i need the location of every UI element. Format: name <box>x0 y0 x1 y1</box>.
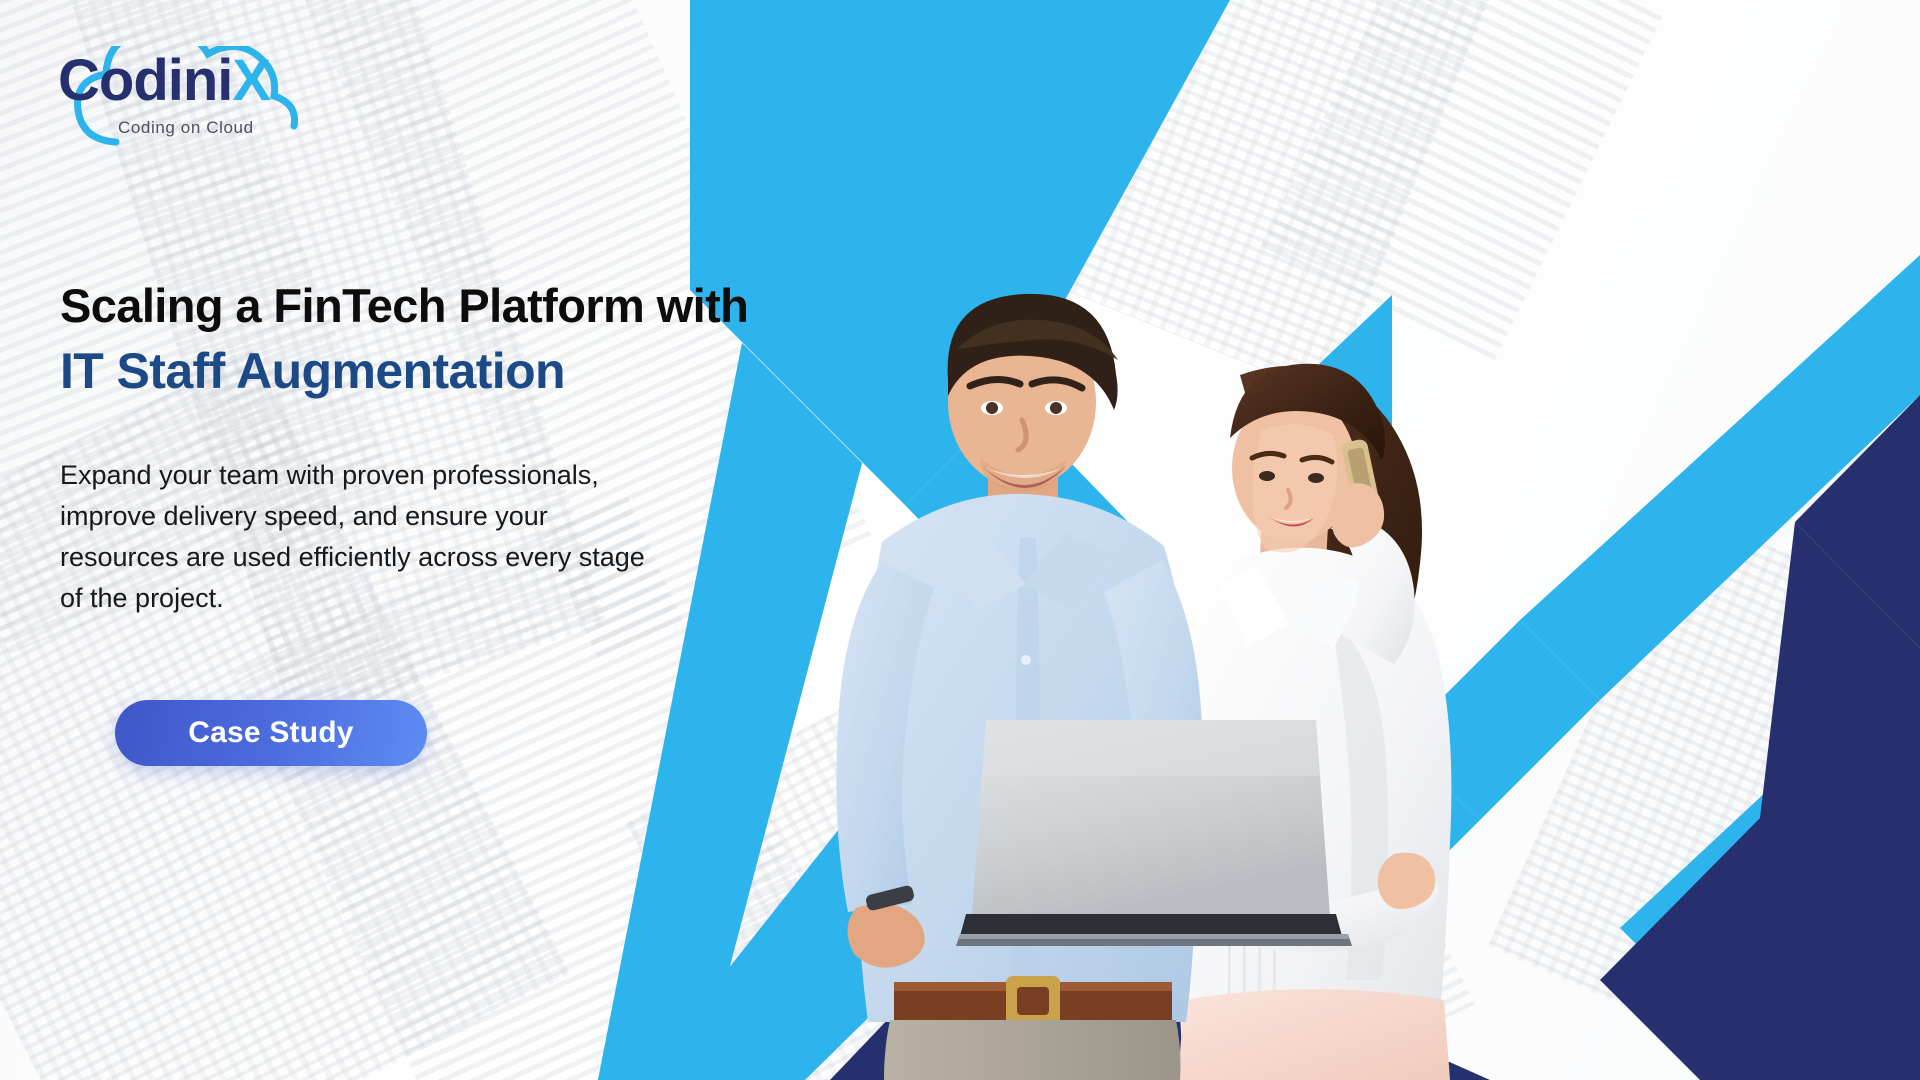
logo-tagline: Coding on Cloud <box>118 118 254 138</box>
headline-line-2: IT Staff Augmentation <box>60 343 900 399</box>
logo-wordmark[interactable]: CodiniX <box>58 52 270 110</box>
man-figure <box>836 294 1202 1080</box>
subheading-line-3: resources are used efficiently across ev… <box>60 537 780 578</box>
subheading-line-1: Expand your team with proven professiona… <box>60 455 780 496</box>
case-study-button[interactable]: Case Study <box>115 700 427 766</box>
marketing-banner: CodiniX Coding on Cloud Scaling a FinTec… <box>0 0 1920 1080</box>
silver-laptop <box>956 720 1352 946</box>
headline-block: Scaling a FinTech Platform with IT Staff… <box>60 280 900 399</box>
logo-name-accent: X <box>232 48 270 113</box>
subheading-block: Expand your team with proven professiona… <box>60 455 780 619</box>
subheading-line-2: improve delivery speed, and ensure your <box>60 496 780 537</box>
subheading-line-4: of the project. <box>60 578 780 619</box>
logo-name-dark: Codini <box>58 48 232 113</box>
headline-line-1: Scaling a FinTech Platform with <box>60 280 900 333</box>
